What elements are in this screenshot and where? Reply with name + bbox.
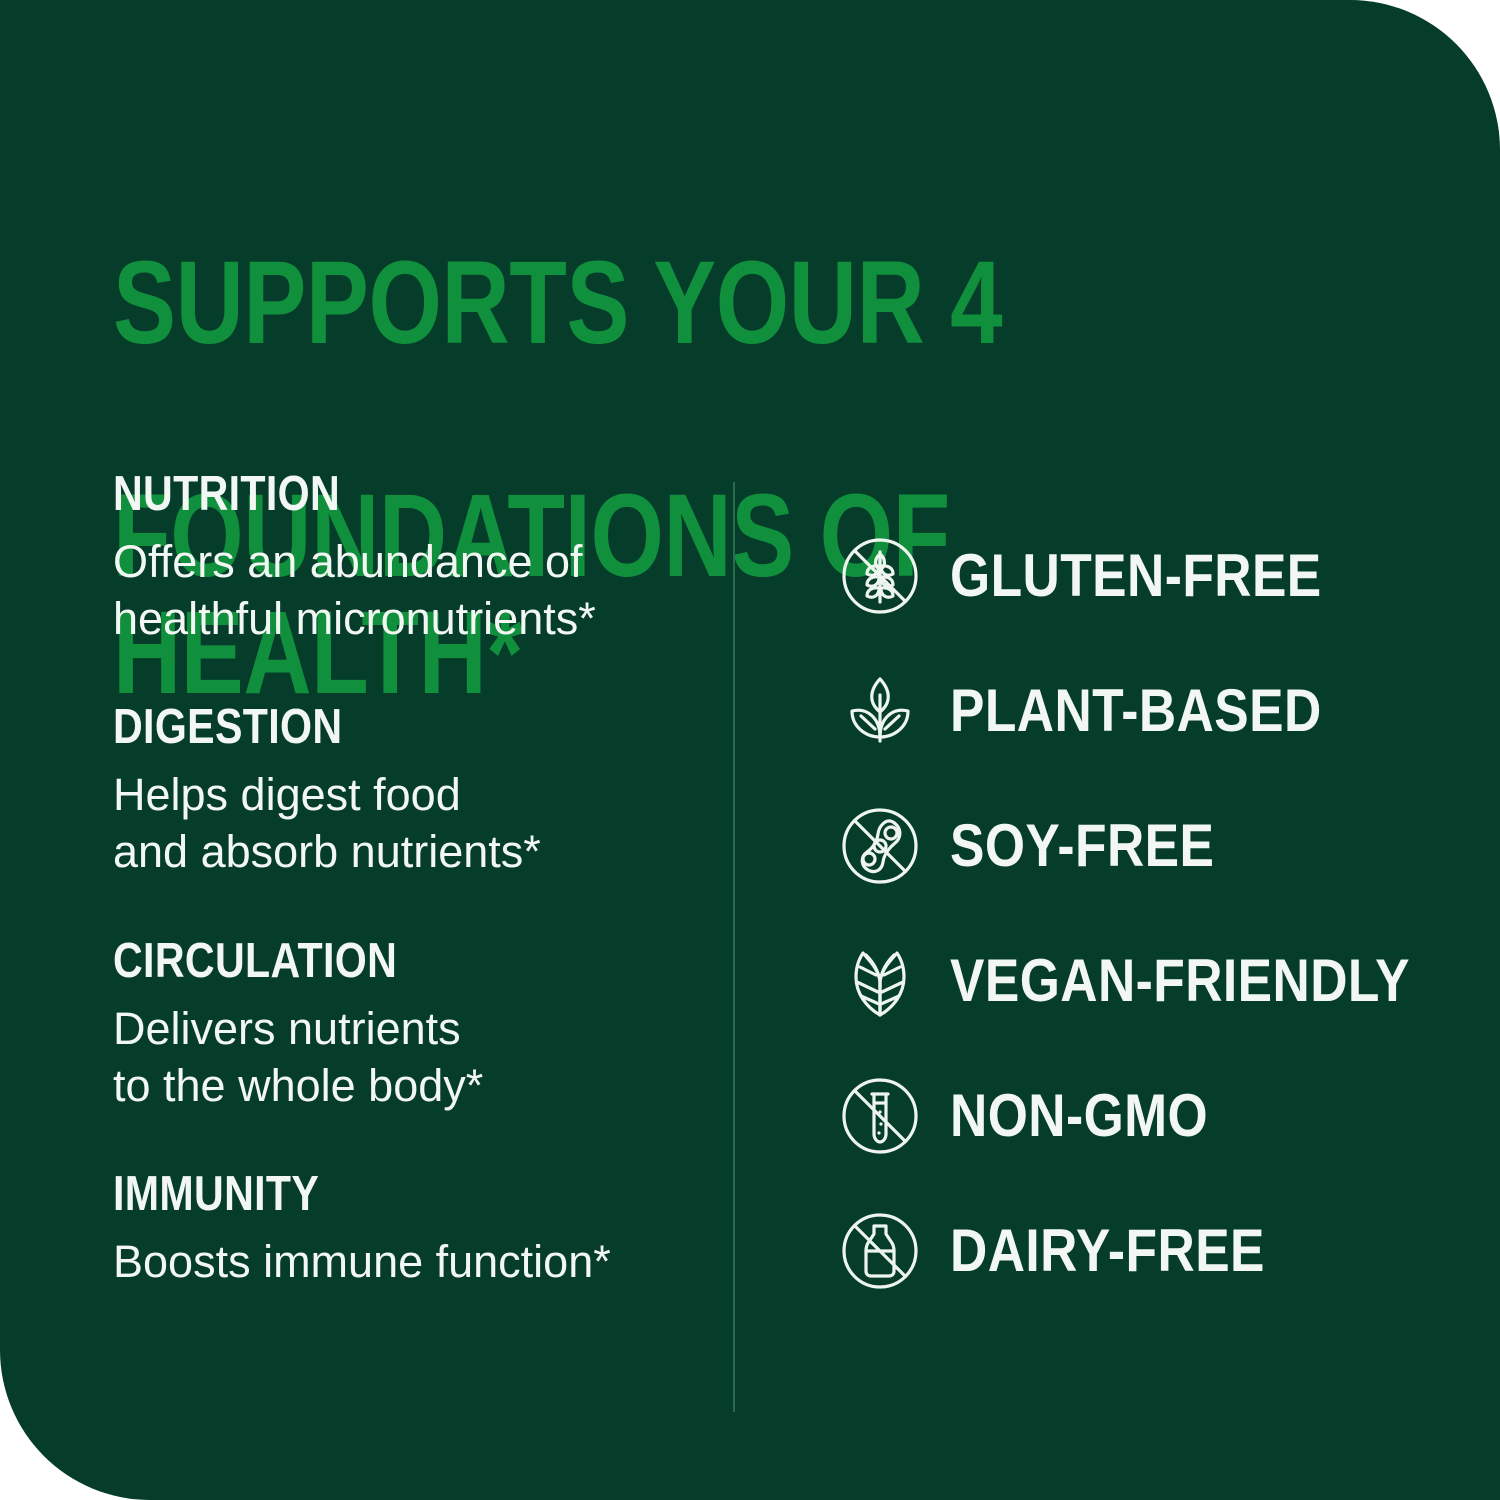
foundations-list: NUTRITION Offers an abundance of healthf… xyxy=(113,470,713,1290)
badge-label: NON-GMO xyxy=(950,1086,1208,1146)
badge-label: DAIRY-FREE xyxy=(950,1221,1265,1281)
badge-vegan-friendly: VEGAN-FRIENDLY xyxy=(836,937,1456,1025)
foundation-item-circulation: CIRCULATION Delivers nutrients to the wh… xyxy=(113,937,713,1114)
foundation-description: Offers an abundance of healthful micronu… xyxy=(113,533,713,647)
badge-label: VEGAN-FRIENDLY xyxy=(950,951,1410,1011)
badge-soy-free: SOY-FREE xyxy=(836,802,1456,890)
foundation-title: CIRCULATION xyxy=(113,937,617,986)
foundation-description: Boosts immune function* xyxy=(113,1233,713,1290)
foundation-item-digestion: DIGESTION Helps digest food and absorb n… xyxy=(113,703,713,880)
soybean-no-icon xyxy=(836,802,924,890)
badge-plant-based: PLANT-BASED xyxy=(836,667,1456,755)
badge-non-gmo: NON-GMO xyxy=(836,1072,1456,1160)
foundation-description: Helps digest food and absorb nutrients* xyxy=(113,766,713,880)
wheat-no-icon xyxy=(836,532,924,620)
column-divider xyxy=(733,482,735,1412)
foundation-item-immunity: IMMUNITY Boosts immune function* xyxy=(113,1170,713,1290)
page-title-line-1: SUPPORTS YOUR 4 xyxy=(113,245,1153,362)
badge-label: PLANT-BASED xyxy=(950,681,1322,741)
certification-badges: GLUTEN-FREE PLANT-BASED xyxy=(836,532,1456,1295)
badge-label: SOY-FREE xyxy=(950,816,1214,876)
product-benefits-panel: SUPPORTS YOUR 4 FOUNDATIONS OF HEALTH* N… xyxy=(0,0,1500,1500)
badge-dairy-free: DAIRY-FREE xyxy=(836,1207,1456,1295)
test-tube-no-icon xyxy=(836,1072,924,1160)
content-columns: NUTRITION Offers an abundance of healthf… xyxy=(0,470,1500,1430)
foundation-title: NUTRITION xyxy=(113,470,617,519)
milk-bottle-no-icon xyxy=(836,1207,924,1295)
badge-gluten-free: GLUTEN-FREE xyxy=(836,532,1456,620)
badge-label: GLUTEN-FREE xyxy=(950,546,1322,606)
foundation-description: Delivers nutrients to the whole body* xyxy=(113,1000,713,1114)
leaves-icon xyxy=(836,937,924,1025)
sprout-icon xyxy=(836,667,924,755)
foundation-title: DIGESTION xyxy=(113,703,617,752)
foundation-title: IMMUNITY xyxy=(113,1170,617,1219)
foundation-item-nutrition: NUTRITION Offers an abundance of healthf… xyxy=(113,470,713,647)
